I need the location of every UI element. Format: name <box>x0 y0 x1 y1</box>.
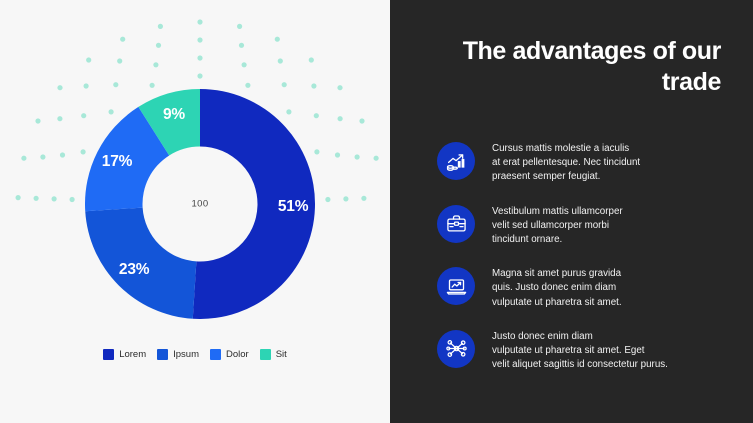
feature-text: Magna sit amet purus gravida quis. Justo… <box>492 265 622 310</box>
decor-dot <box>40 154 45 159</box>
decor-dot <box>282 82 287 87</box>
decor-dot <box>117 58 122 63</box>
legend-swatch-icon <box>260 349 271 360</box>
decor-dot <box>309 57 314 62</box>
decor-dot <box>314 149 319 154</box>
decor-dot <box>16 195 21 200</box>
decor-dot <box>197 37 202 42</box>
content-panel: The advantages of our trade Cursus matti… <box>390 0 753 423</box>
decor-dot <box>343 196 348 201</box>
decor-dot <box>197 19 202 24</box>
chart-panel: 100 51%23%17%9% LoremIpsumDolorSit <box>0 0 390 423</box>
donut-slice-label: 51% <box>278 198 308 216</box>
decor-dot <box>150 83 155 88</box>
decor-dot <box>197 73 202 78</box>
decor-dot <box>374 156 379 161</box>
decor-dot <box>338 116 343 121</box>
decor-dot <box>325 197 330 202</box>
legend-label: Dolor <box>226 349 249 360</box>
decor-dot <box>35 118 40 123</box>
laptop-chart-icon <box>437 267 475 305</box>
legend-item-sit[interactable]: Sit <box>260 349 287 360</box>
legend-label: Ipsum <box>173 349 199 360</box>
donut-center-total: 100 <box>191 199 208 210</box>
legend-swatch-icon <box>210 349 221 360</box>
donut-slice-label: 23% <box>119 261 149 279</box>
decor-dot <box>60 152 65 157</box>
decor-dot <box>311 83 316 88</box>
decor-dot <box>120 37 125 42</box>
decor-dot <box>153 62 158 67</box>
decor-dot <box>359 118 364 123</box>
legend-label: Lorem <box>119 349 146 360</box>
legend-item-ipsum[interactable]: Ipsum <box>157 349 199 360</box>
growth-chart-coins-icon <box>437 142 475 180</box>
page-title: The advantages of our trade <box>430 36 721 98</box>
legend-item-lorem[interactable]: Lorem <box>103 349 146 360</box>
decor-dot <box>84 83 89 88</box>
feature-text: Justo donec enim diam vulputate ut phare… <box>492 328 668 373</box>
feature-item: Magna sit amet purus gravida quis. Justo… <box>437 265 742 310</box>
network-nodes-icon <box>437 330 475 368</box>
decor-dot <box>70 197 75 202</box>
decor-dot <box>275 37 280 42</box>
feature-text: Cursus mattis molestie a iaculis at erat… <box>492 140 640 185</box>
feature-list: Cursus mattis molestie a iaculis at erat… <box>437 140 742 390</box>
slide-root: 100 51%23%17%9% LoremIpsumDolorSit The a… <box>0 0 753 423</box>
donut-slice-label: 9% <box>163 106 185 124</box>
donut-chart: 100 51%23%17%9% <box>85 89 315 319</box>
decor-dot <box>245 83 250 88</box>
feature-text: Vestibulum mattis ullamcorper velit sed … <box>492 203 623 248</box>
decor-dot <box>86 57 91 62</box>
decor-dot <box>242 62 247 67</box>
decor-dot <box>197 55 202 60</box>
decor-dot <box>237 24 242 29</box>
legend-item-dolor[interactable]: Dolor <box>210 349 249 360</box>
decor-dot <box>21 156 26 161</box>
decor-dot <box>337 85 342 90</box>
decor-dot <box>52 196 57 201</box>
chart-legend: LoremIpsumDolorSit <box>0 349 390 360</box>
decor-dot <box>278 58 283 63</box>
donut-slice-label: 17% <box>102 153 132 171</box>
decor-dot <box>239 43 244 48</box>
briefcase-icon <box>437 205 475 243</box>
legend-label: Sit <box>276 349 287 360</box>
decor-dot <box>57 116 62 121</box>
feature-item: Vestibulum mattis ullamcorper velit sed … <box>437 203 742 248</box>
feature-item: Cursus mattis molestie a iaculis at erat… <box>437 140 742 185</box>
legend-swatch-icon <box>157 349 168 360</box>
feature-item: Justo donec enim diam vulputate ut phare… <box>437 328 742 373</box>
decor-dot <box>156 43 161 48</box>
decor-dot <box>361 196 366 201</box>
decor-dot <box>113 82 118 87</box>
decor-dot <box>335 152 340 157</box>
legend-swatch-icon <box>103 349 114 360</box>
decor-dot <box>158 24 163 29</box>
decor-dot <box>34 196 39 201</box>
decor-dot <box>57 85 62 90</box>
decor-dot <box>355 154 360 159</box>
